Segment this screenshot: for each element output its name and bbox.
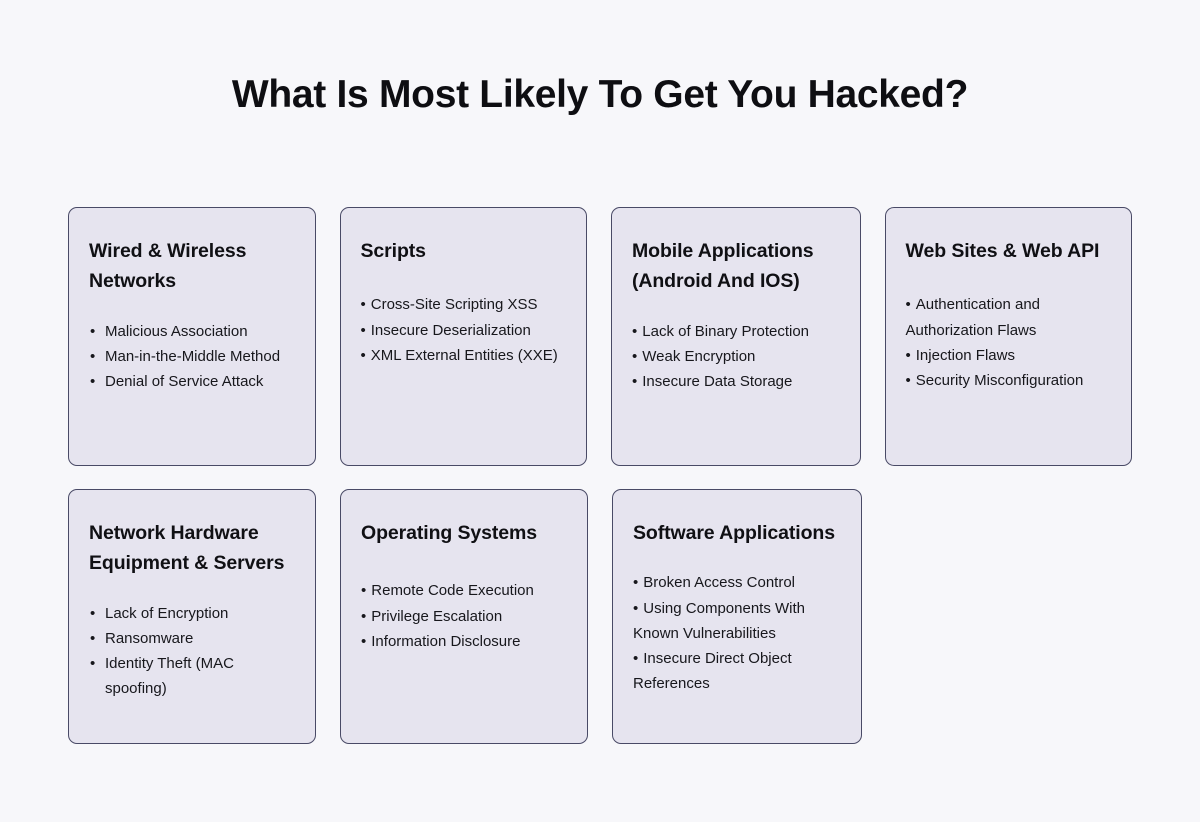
list-item: Denial of Service Attack <box>89 369 295 394</box>
card-mobile-applications: Mobile Applications (Android And IOS) La… <box>611 207 861 466</box>
infographic-page: What Is Most Likely To Get You Hacked? W… <box>0 0 1200 822</box>
card-list: Broken Access Control Using Components W… <box>633 570 841 696</box>
list-item: Injection Flaws <box>906 343 1112 368</box>
list-item: Insecure Deserialization <box>361 318 567 343</box>
card-operating-systems: Operating Systems Remote Code Execution … <box>340 489 588 744</box>
list-item: Malicious Association <box>89 319 295 344</box>
card-software-applications: Software Applications Broken Access Cont… <box>612 489 862 744</box>
list-item: Ransomware <box>89 626 295 651</box>
list-item: Weak Encryption <box>632 344 840 369</box>
list-item: Privilege Escalation <box>361 604 567 629</box>
card-heading: Scripts <box>361 236 567 266</box>
card-heading: Software Applications <box>633 518 841 548</box>
card-heading: Web Sites & Web API <box>906 236 1112 266</box>
list-item: Insecure Data Storage <box>632 369 840 394</box>
list-item: Insecure Direct Object References <box>633 646 841 696</box>
list-item: Identity Theft (MAC spoofing) <box>89 651 295 701</box>
card-heading: Network Hardware Equipment & Servers <box>89 518 295 579</box>
list-item: Using Components With Known Vulnerabilit… <box>633 596 841 646</box>
card-list: Authentication and Authorization Flaws I… <box>906 292 1112 393</box>
card-web-sites-web-api: Web Sites & Web API Authentication and A… <box>885 207 1133 466</box>
card-list: Remote Code Execution Privilege Escalati… <box>361 578 567 654</box>
page-title: What Is Most Likely To Get You Hacked? <box>0 72 1200 119</box>
list-item: XML External Entities (XXE) <box>361 343 567 368</box>
list-item: Remote Code Execution <box>361 578 567 603</box>
list-item: Man-in-the-Middle Method <box>89 344 295 369</box>
card-scripts: Scripts Cross-Site Scripting XSS Insecur… <box>340 207 588 466</box>
card-list: Lack of Encryption Ransomware Identity T… <box>89 601 295 702</box>
list-item: Information Disclosure <box>361 629 567 654</box>
card-network-hardware-equipment-servers: Network Hardware Equipment & Servers Lac… <box>68 489 316 744</box>
card-grid: Wired & Wireless Networks Malicious Asso… <box>68 207 1132 744</box>
card-list: Cross-Site Scripting XSS Insecure Deseri… <box>361 292 567 368</box>
card-heading: Mobile Applications (Android And IOS) <box>632 236 840 297</box>
list-item: Lack of Binary Protection <box>632 319 840 344</box>
list-item: Authentication and Authorization Flaws <box>906 292 1112 342</box>
card-list: Malicious Association Man-in-the-Middle … <box>89 319 295 395</box>
card-row-top: Wired & Wireless Networks Malicious Asso… <box>68 207 1132 466</box>
list-item: Cross-Site Scripting XSS <box>361 292 567 317</box>
card-wired-wireless-networks: Wired & Wireless Networks Malicious Asso… <box>68 207 316 466</box>
card-heading: Operating Systems <box>361 518 567 548</box>
card-heading: Wired & Wireless Networks <box>89 236 295 297</box>
list-item: Security Misconfiguration <box>906 368 1112 393</box>
card-row-bottom: Network Hardware Equipment & Servers Lac… <box>68 489 1132 744</box>
list-item: Lack of Encryption <box>89 601 295 626</box>
list-item: Broken Access Control <box>633 570 841 595</box>
card-list: Lack of Binary Protection Weak Encryptio… <box>632 319 840 395</box>
